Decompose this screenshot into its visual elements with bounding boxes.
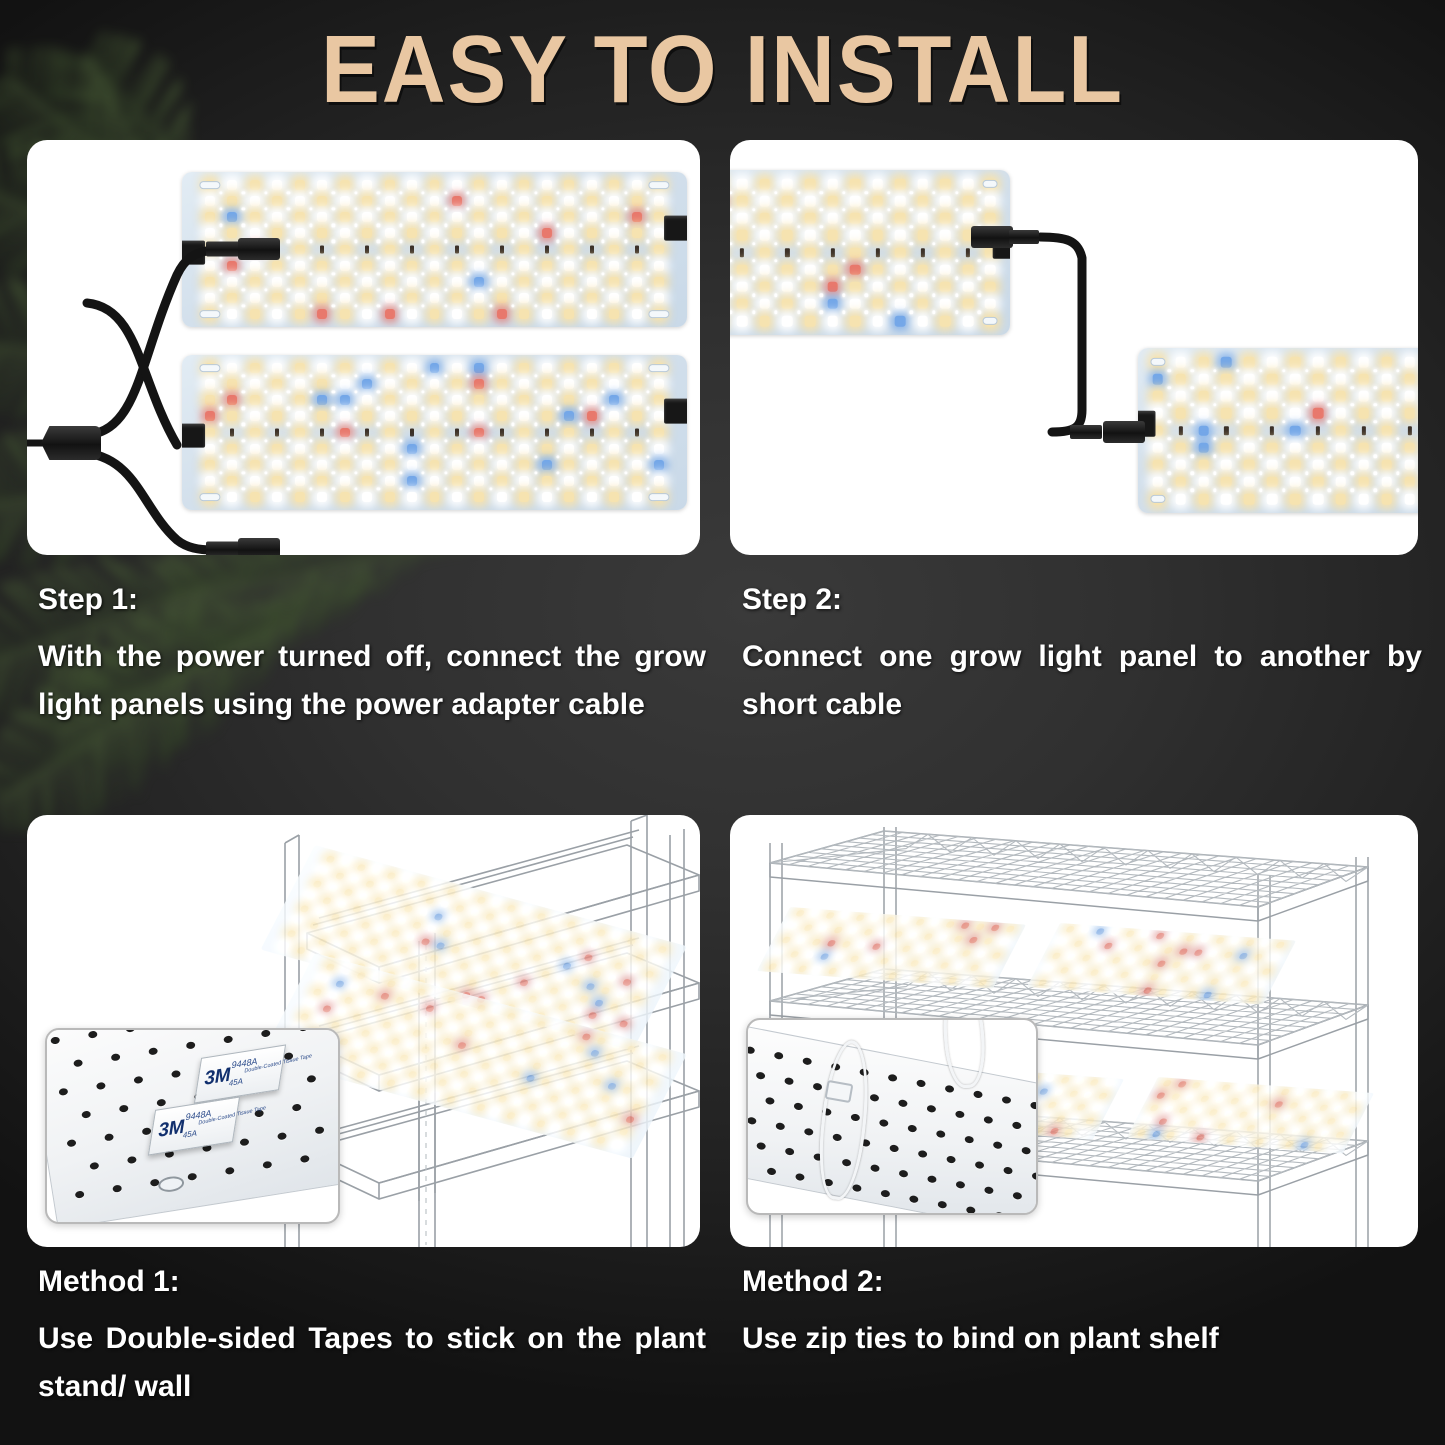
led-white <box>272 363 282 373</box>
frond-leaflet <box>47 121 124 129</box>
frond-leaflet <box>358 568 374 579</box>
led-white <box>827 316 838 327</box>
led-white <box>759 299 770 310</box>
solder-dot <box>646 304 649 307</box>
solder-dot <box>624 192 627 195</box>
solder-dot <box>422 407 425 410</box>
led-warm-white <box>452 261 462 271</box>
led-warm-white <box>205 277 215 287</box>
solder-dot <box>579 256 582 259</box>
solder-dot <box>579 455 582 458</box>
led-white <box>1083 1091 1093 1098</box>
led-white <box>1404 494 1415 505</box>
led-warm-white <box>1175 374 1186 385</box>
mounting-slot <box>983 317 998 325</box>
led-red <box>827 281 838 292</box>
led-warm-white <box>250 277 260 287</box>
caption-step2-body: Connect one grow light panel to another … <box>742 633 1422 730</box>
solder-dot <box>534 208 537 211</box>
led-white <box>1083 982 1093 989</box>
led-white <box>1244 408 1255 419</box>
led-white <box>612 1140 622 1148</box>
led-white <box>1381 477 1392 488</box>
solder-dot <box>489 208 492 211</box>
mounting-hole <box>916 1079 926 1088</box>
solder-dot <box>820 311 823 314</box>
led-warm-white <box>519 363 529 373</box>
led-warm-white <box>566 1128 576 1136</box>
led-warm-white <box>523 937 533 945</box>
solder-dot <box>579 288 582 291</box>
solder-dot <box>557 208 560 211</box>
led-white <box>317 363 327 373</box>
solder-dot <box>797 225 800 228</box>
solder-dot <box>309 375 312 378</box>
led-white <box>1312 1117 1322 1124</box>
led-white <box>474 228 484 238</box>
mounting-slot <box>199 364 220 372</box>
led-white <box>870 916 880 923</box>
led-warm-white <box>1128 986 1138 993</box>
solder-dot <box>579 471 582 474</box>
frond-leaflet <box>0 107 47 132</box>
led-warm-white <box>272 196 282 206</box>
led-warm-white <box>833 927 843 934</box>
led-driver-chip <box>921 248 925 258</box>
solder-dot <box>242 439 245 442</box>
led-panel-bottom <box>182 355 687 510</box>
solder-dot <box>489 471 492 474</box>
solder-dot <box>955 208 958 211</box>
led-warm-white <box>519 309 529 319</box>
led-white <box>573 1116 583 1124</box>
solder-dot <box>309 240 312 243</box>
solder-dot <box>624 375 627 378</box>
led-warm-white <box>609 460 619 470</box>
led-warm-white <box>1208 1109 1218 1116</box>
led-warm-white <box>609 245 619 255</box>
led-white <box>834 954 844 961</box>
led-warm-white <box>519 395 529 405</box>
frond-leaflet <box>0 280 12 348</box>
led-warm-white <box>1166 1132 1176 1139</box>
solder-dot <box>467 288 470 291</box>
solder-dot <box>242 224 245 227</box>
solder-dot <box>646 439 649 442</box>
solder-dot <box>377 224 380 227</box>
solder-dot <box>534 423 537 426</box>
led-red <box>474 428 484 438</box>
led-white <box>1253 1112 1263 1119</box>
led-white <box>542 309 552 319</box>
led-white <box>250 444 260 454</box>
led-white <box>407 395 417 405</box>
solder-dot <box>287 423 290 426</box>
led-white <box>1140 932 1150 939</box>
led-white <box>474 261 484 271</box>
mounting-hole <box>104 1133 114 1141</box>
led-white <box>895 264 906 275</box>
led-white <box>272 492 282 502</box>
led-warm-white <box>901 946 911 953</box>
frond-leaflet <box>2 725 64 760</box>
led-warm-white <box>1136 1130 1146 1137</box>
led-warm-white <box>385 245 395 255</box>
solder-dot <box>287 455 290 458</box>
led-white <box>963 978 973 985</box>
led-warm-white <box>879 958 889 965</box>
led-warm-white <box>1267 408 1278 419</box>
led-white <box>917 281 928 292</box>
led-warm-white <box>1318 1104 1328 1111</box>
solder-dot <box>332 208 335 211</box>
solder-dot <box>264 288 267 291</box>
led-warm-white <box>849 955 859 962</box>
mounting-hole <box>936 1130 946 1139</box>
led-warm-white <box>828 968 838 975</box>
led-white <box>1110 929 1120 936</box>
led-white <box>497 277 507 287</box>
page-title: EASY TO INSTALL <box>58 22 1387 118</box>
card-method2-ziptie <box>730 815 1418 1247</box>
led-white <box>1233 994 1243 1001</box>
led-warm-white <box>300 905 310 913</box>
mounting-hole <box>292 1103 302 1111</box>
led-white <box>205 444 215 454</box>
solder-dot <box>219 208 222 211</box>
mounting-hole <box>954 1110 964 1119</box>
led-warm-white <box>205 212 215 222</box>
led-warm-white <box>759 281 770 292</box>
led-warm-white <box>1313 477 1324 488</box>
led-warm-white <box>1336 425 1347 436</box>
led-white <box>384 1050 394 1058</box>
led-white <box>1246 967 1256 974</box>
led-red <box>584 954 594 962</box>
solder-dot <box>774 208 777 211</box>
solder-dot <box>557 407 560 410</box>
led-warm-white <box>562 1070 572 1078</box>
solder-dot <box>512 240 515 243</box>
led-white <box>474 444 484 454</box>
led-white <box>609 379 619 389</box>
solder-dot <box>219 272 222 275</box>
led-blue <box>1299 1142 1309 1149</box>
solder-dot <box>774 242 777 245</box>
solder-dot <box>399 391 402 394</box>
led-warm-white <box>1404 477 1415 488</box>
led-blue <box>1221 357 1232 368</box>
led-white <box>1333 1105 1343 1112</box>
solder-dot <box>399 240 402 243</box>
led-warm-white <box>343 996 353 1004</box>
led-white <box>385 293 395 303</box>
led-warm-white <box>609 277 619 287</box>
led-warm-white <box>536 1021 546 1029</box>
solder-dot <box>646 455 649 458</box>
solder-dot <box>730 294 733 297</box>
led-red <box>990 925 1000 932</box>
led-white <box>582 925 592 933</box>
led-white <box>587 277 597 287</box>
led-white <box>984 966 994 973</box>
led-warm-white <box>362 228 372 238</box>
led-white <box>1148 946 1158 953</box>
led-white <box>963 316 974 327</box>
led-warm-white <box>827 196 838 207</box>
led-white <box>388 901 398 909</box>
solder-dot <box>865 208 868 211</box>
frond-leaflet <box>0 201 17 245</box>
led-driver-chip <box>590 428 594 437</box>
frond-leaflet <box>238 555 255 568</box>
led-warm-white <box>515 921 525 929</box>
solder-dot <box>910 259 913 262</box>
led-white <box>569 1058 579 1066</box>
solder-dot <box>444 208 447 211</box>
solder-dot <box>264 304 267 307</box>
led-red <box>497 309 507 319</box>
solder-dot <box>332 304 335 307</box>
led-warm-white <box>1215 937 1225 944</box>
mounting-hole <box>880 1189 890 1198</box>
frond-leaflet <box>0 78 11 94</box>
solder-dot <box>377 471 380 474</box>
led-white <box>407 363 417 373</box>
mounting-hole <box>127 1156 137 1164</box>
mounting-hole <box>187 1173 197 1181</box>
led-warm-white <box>497 228 507 238</box>
solder-dot <box>932 208 935 211</box>
led-warm-white <box>506 1112 516 1120</box>
solder-dot <box>444 288 447 291</box>
solder-dot <box>377 240 380 243</box>
led-white <box>341 967 351 975</box>
solder-dot <box>467 407 470 410</box>
led-warm-white <box>1209 978 1219 985</box>
led-warm-white <box>885 917 895 924</box>
solder-dot <box>557 288 560 291</box>
led-white <box>1198 477 1209 488</box>
solder-dot <box>422 391 425 394</box>
solder-dot <box>467 208 470 211</box>
led-warm-white <box>588 1120 598 1128</box>
led-white <box>362 395 372 405</box>
led-warm-white <box>805 316 816 327</box>
led-white <box>362 309 372 319</box>
solder-dot <box>422 224 425 227</box>
led-white <box>1223 1110 1233 1117</box>
led-white <box>362 180 372 190</box>
solder-dot <box>399 375 402 378</box>
led-warm-white <box>1085 1118 1095 1125</box>
led-blue <box>340 395 350 405</box>
mounting-hole <box>746 1091 747 1100</box>
solder-dot <box>309 471 312 474</box>
solder-dot <box>1213 386 1216 389</box>
led-white <box>340 411 350 421</box>
led-driver-chip <box>785 248 789 258</box>
led-white <box>1104 970 1114 977</box>
led-white <box>542 212 552 222</box>
led-warm-white <box>545 1037 555 1045</box>
led-warm-white <box>1098 1093 1108 1100</box>
led-white <box>367 909 377 917</box>
solder-dot <box>377 256 380 259</box>
led-white <box>319 868 329 876</box>
led-warm-white <box>632 411 642 421</box>
solder-dot <box>242 192 245 195</box>
led-warm-white <box>326 963 336 971</box>
led-warm-white <box>356 972 366 980</box>
solder-dot <box>1374 489 1377 492</box>
solder-dot <box>601 288 604 291</box>
led-white <box>319 976 329 984</box>
led-white <box>497 180 507 190</box>
solder-dot <box>512 272 515 275</box>
led-warm-white <box>474 245 484 255</box>
led-white <box>848 928 858 935</box>
solder-dot <box>646 407 649 410</box>
led-warm-white <box>430 428 440 438</box>
solder-dot <box>534 288 537 291</box>
solder-dot <box>730 276 733 279</box>
led-white <box>345 1025 355 1033</box>
led-white <box>385 444 395 454</box>
led-white <box>410 892 420 900</box>
led-warm-white <box>497 379 507 389</box>
led-warm-white <box>991 952 1001 959</box>
led-white <box>500 917 510 925</box>
led-warm-white <box>377 1062 387 1070</box>
led-white <box>341 859 351 867</box>
led-red <box>960 922 970 929</box>
led-red <box>1156 1092 1166 1099</box>
solder-dot <box>579 391 582 394</box>
led-warm-white <box>272 411 282 421</box>
led-white <box>759 230 770 241</box>
solder-dot <box>444 224 447 227</box>
led-white <box>1404 391 1415 402</box>
solder-dot <box>579 375 582 378</box>
led-warm-white <box>205 428 215 438</box>
led-driver-chip <box>275 428 279 437</box>
solder-dot <box>752 225 755 228</box>
led-white <box>474 293 484 303</box>
solder-dot <box>489 439 492 442</box>
led-red <box>618 1020 628 1028</box>
solder-dot <box>467 304 470 307</box>
led-white <box>340 228 350 238</box>
led-warm-white <box>895 179 906 190</box>
led-white <box>1336 442 1347 453</box>
solder-dot <box>534 192 537 195</box>
solder-dot <box>512 407 515 410</box>
led-warm-white <box>1245 940 1255 947</box>
led-white <box>530 925 540 933</box>
led-white <box>840 913 850 920</box>
led-driver-chip <box>320 428 324 437</box>
led-white <box>894 959 904 966</box>
caption-method1: Method 1: Use Double-sided Tapes to stic… <box>38 1262 706 1412</box>
led-white <box>872 281 883 292</box>
mounting-hole <box>937 1200 947 1209</box>
led-warm-white <box>605 946 615 954</box>
solder-dot <box>601 455 604 458</box>
led-white <box>1267 459 1278 470</box>
led-warm-white <box>474 180 484 190</box>
led-warm-white <box>596 1136 606 1144</box>
led-warm-white <box>1221 477 1232 488</box>
led-warm-white <box>940 281 951 292</box>
led-white <box>295 228 305 238</box>
led-white <box>805 299 816 310</box>
led-warm-white <box>430 460 440 470</box>
led-warm-white <box>369 938 379 946</box>
led-white <box>250 261 260 271</box>
mounting-hole <box>746 1116 756 1125</box>
panel-backplate-zip <box>746 1024 1038 1215</box>
solder-dot <box>1305 369 1308 372</box>
led-warm-white <box>963 196 974 207</box>
solder-dot <box>1168 403 1171 406</box>
solder-dot <box>534 391 537 394</box>
led-blue <box>607 1082 617 1090</box>
led-white <box>1172 1119 1182 1126</box>
led-warm-white <box>407 293 417 303</box>
solder-dot <box>1190 386 1193 389</box>
led-warm-white <box>1223 952 1233 959</box>
led-warm-white <box>295 309 305 319</box>
solder-dot <box>242 272 245 275</box>
solder-dot <box>910 294 913 297</box>
solder-dot <box>730 242 733 245</box>
led-white <box>632 363 642 373</box>
solder-dot <box>264 224 267 227</box>
solder-dot <box>1190 403 1193 406</box>
led-warm-white <box>805 247 816 258</box>
led-driver-chip <box>500 245 504 254</box>
led-warm-white <box>1290 391 1301 402</box>
led-white <box>551 1025 561 1033</box>
led-white <box>620 950 630 958</box>
led-warm-white <box>657 945 667 953</box>
led-white <box>465 950 475 958</box>
solder-dot <box>444 423 447 426</box>
solder-dot <box>399 304 402 307</box>
led-white <box>796 938 806 945</box>
led-white <box>295 476 305 486</box>
led-warm-white <box>1175 442 1186 453</box>
solder-dot <box>332 192 335 195</box>
led-white <box>930 920 940 927</box>
solder-dot <box>797 208 800 211</box>
frond-leaflet <box>0 92 29 111</box>
led-white <box>295 261 305 271</box>
led-warm-white <box>915 919 925 926</box>
led-white <box>474 1074 484 1082</box>
solder-dot <box>1190 437 1193 440</box>
led-warm-white <box>250 309 260 319</box>
solder-dot <box>1305 386 1308 389</box>
led-warm-white <box>407 1071 417 1079</box>
led-white <box>1336 374 1347 385</box>
led-driver-chip <box>740 248 744 258</box>
led-warm-white <box>1217 1123 1227 1130</box>
led-warm-white <box>463 921 473 929</box>
led-red <box>588 1012 598 1020</box>
solder-dot <box>512 423 515 426</box>
